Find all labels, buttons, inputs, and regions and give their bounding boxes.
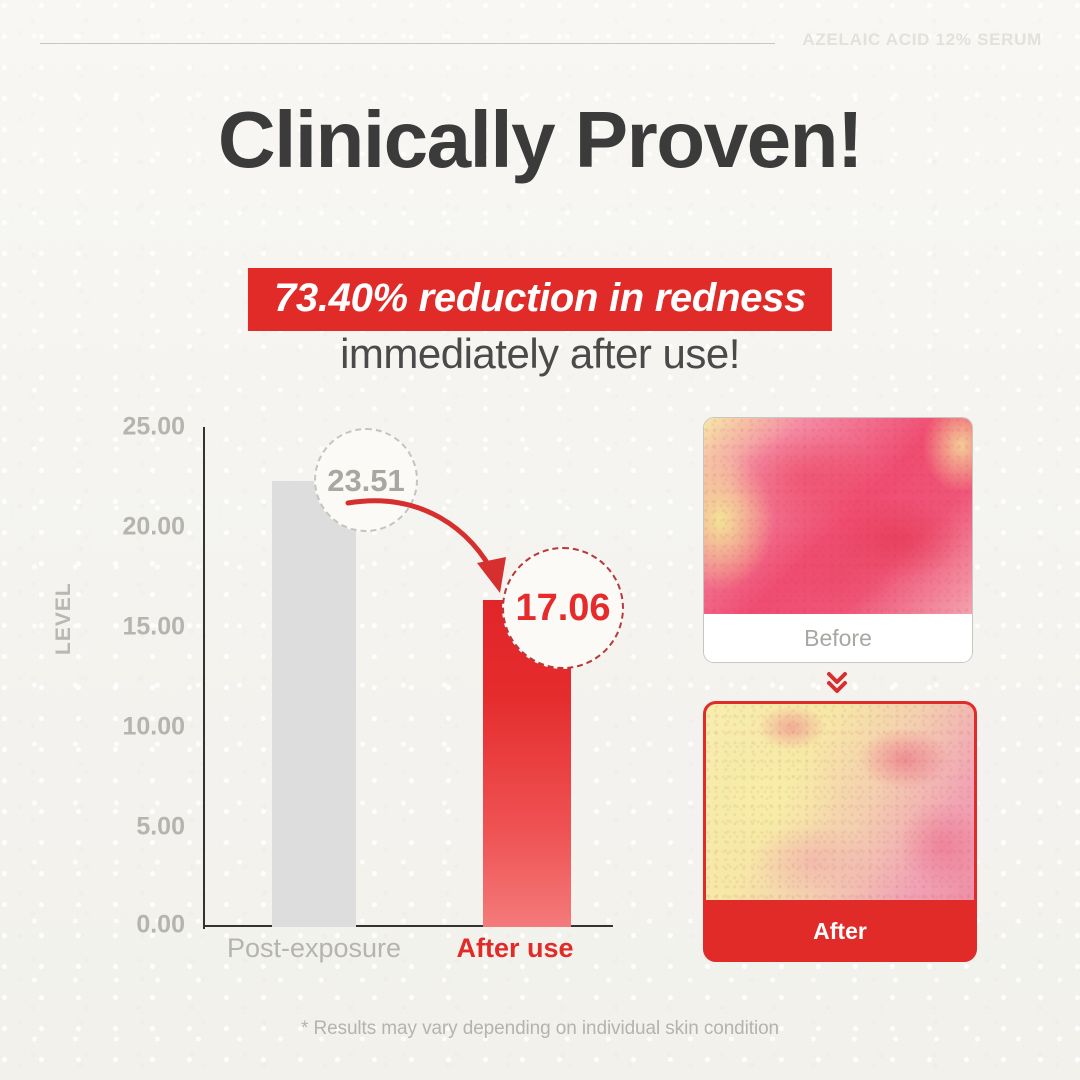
y-tick-label-0: 0.00 bbox=[60, 911, 185, 940]
reduction-arrow-icon bbox=[340, 485, 560, 625]
highlight-banner-text: 73.40% reduction in redness bbox=[274, 276, 806, 320]
after-panel: After bbox=[703, 701, 977, 962]
after-caption: After bbox=[706, 903, 974, 959]
before-skin-image bbox=[704, 418, 972, 614]
before-skin-texture bbox=[704, 418, 972, 614]
y-tick-label-15: 15.00 bbox=[60, 613, 185, 642]
y-tick-label-25: 25.00 bbox=[60, 413, 185, 442]
chevron-double-down-icon bbox=[703, 664, 971, 700]
header-divider bbox=[40, 43, 775, 44]
after-skin-image bbox=[706, 704, 974, 900]
disclaimer-note: * Results may vary depending on individu… bbox=[0, 1018, 1080, 1040]
redness-bar-chart: LEVEL 25.00 20.00 15.00 10.00 5.00 0.00 … bbox=[60, 405, 660, 985]
highlight-banner: 73.40% reduction in redness bbox=[248, 268, 832, 331]
after-skin-texture bbox=[706, 704, 974, 900]
x-axis-label-post-exposure: Post-exposure bbox=[199, 935, 429, 962]
y-tick-label-20: 20.00 bbox=[60, 513, 185, 542]
subtitle: immediately after use! bbox=[0, 333, 1080, 375]
y-tick-label-10: 10.00 bbox=[60, 713, 185, 742]
x-axis-label-after-use: After use bbox=[400, 935, 630, 962]
page-title: Clinically Proven! bbox=[0, 100, 1080, 180]
before-panel: Before bbox=[703, 417, 973, 663]
poster-root: AZELAIC ACID 12% SERUM Clinically Proven… bbox=[0, 0, 1080, 1080]
y-axis-line bbox=[203, 427, 205, 929]
brand-label: AZELAIC ACID 12% SERUM bbox=[802, 30, 1042, 50]
before-caption: Before bbox=[704, 614, 972, 662]
y-tick-label-5: 5.00 bbox=[60, 813, 185, 842]
